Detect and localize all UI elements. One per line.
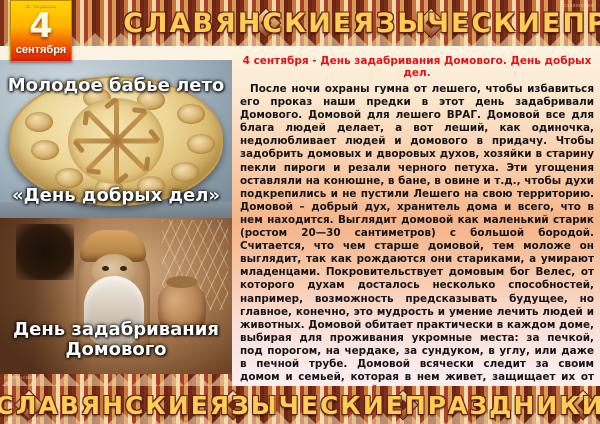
clay-pot-icon bbox=[158, 284, 206, 336]
domovoy-eye-right bbox=[120, 266, 127, 271]
calendar-month-label: сентября bbox=[11, 44, 71, 56]
article-heading: 4 сентября - День задабривания Домового.… bbox=[240, 55, 594, 79]
calendar-day-number: 4 bbox=[11, 10, 71, 42]
top-ornament-ribbon: СЛАВЯНСКИЕЯЗЫЧЕСКИЕПРАЗДНИКИ славянские bbox=[0, 0, 600, 46]
poster-root: СЛАВЯНСКИЕЯЗЫЧЕСКИЕПРАЗДНИКИ славянские … bbox=[0, 0, 600, 424]
domovoy-beard bbox=[84, 276, 144, 348]
left-column-ornament-strip: славянские bbox=[0, 374, 232, 386]
bread-loaf-shape bbox=[9, 76, 223, 206]
photo-ritual-bread bbox=[0, 60, 232, 218]
photo-domovoy bbox=[0, 218, 232, 376]
article-panel: 4 сентября - День задабривания Домового.… bbox=[232, 46, 600, 386]
article-paragraph: После ночи охраны гумна от лешего, чтобы… bbox=[240, 83, 594, 397]
watermark-right: славянские bbox=[563, 3, 594, 9]
calendar-date-chip: б. Червень 4 сентября bbox=[10, 0, 72, 62]
domovoy-eye-left bbox=[102, 266, 109, 271]
bottom-ornament-ribbon: СЛАВЯНСКИЕЯЗЫЧЕСКИЕПРАЗДНИКИ bbox=[0, 386, 600, 424]
domovoy-dark-corner bbox=[16, 224, 74, 280]
bread-kolovrat-symbol bbox=[68, 98, 164, 184]
